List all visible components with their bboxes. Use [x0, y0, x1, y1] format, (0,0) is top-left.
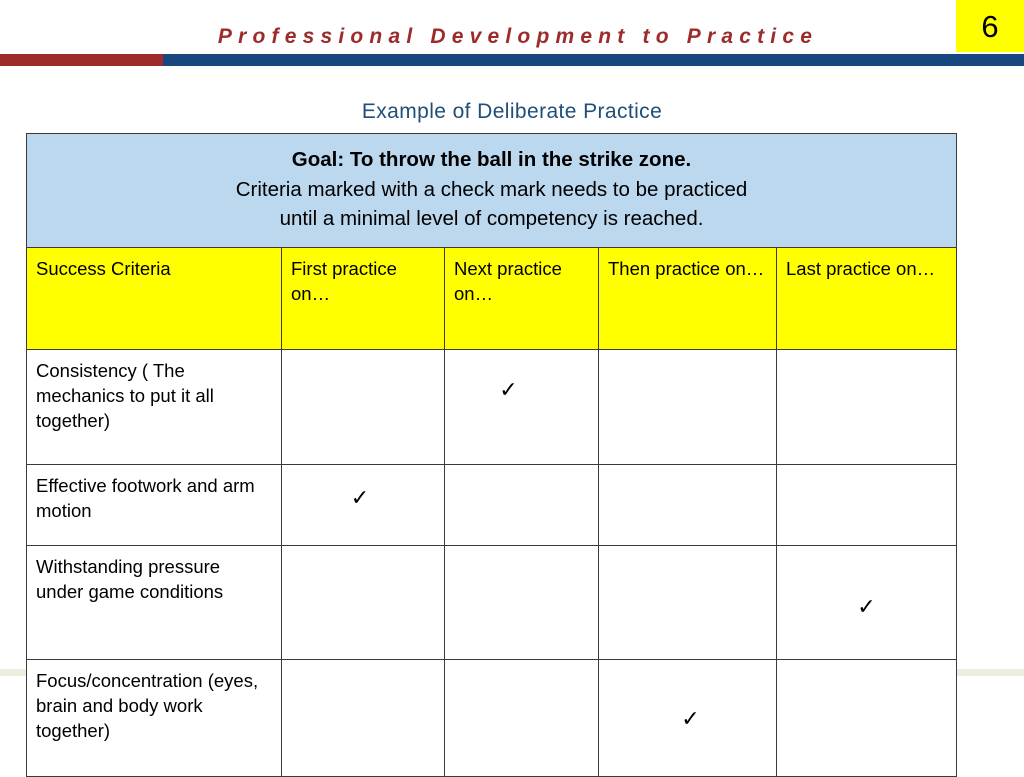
- header-accent-bar-red: [0, 54, 163, 66]
- column-header-then-practice: Then practice on…: [599, 248, 777, 350]
- check-icon: ✓: [351, 488, 369, 510]
- criteria-label: Effective footwork and arm motion: [27, 465, 282, 546]
- goal-statement: Goal: To throw the ball in the strike zo…: [37, 145, 946, 175]
- checkmark-cell-first[interactable]: [282, 660, 445, 777]
- column-header-next-practice: Next practice on…: [445, 248, 599, 350]
- checkmark-cell-last[interactable]: [777, 660, 957, 777]
- header-accent-bar-blue: [163, 54, 1024, 66]
- checkmark-cell-then[interactable]: [599, 350, 777, 465]
- table-row: Effective footwork and arm motion ✓: [27, 465, 957, 546]
- checkmark-cell-then[interactable]: ✓: [599, 660, 777, 777]
- check-icon: ✓: [857, 597, 875, 619]
- check-icon: ✓: [499, 380, 517, 402]
- table-row: Consistency ( The mechanics to put it al…: [27, 350, 957, 465]
- checkmark-cell-next[interactable]: [445, 546, 599, 660]
- slide-subtitle: Example of Deliberate Practice: [0, 100, 1024, 124]
- table-row: Focus/concentration (eyes, brain and bod…: [27, 660, 957, 777]
- column-header-first-practice: First practice on…: [282, 248, 445, 350]
- checkmark-cell-first[interactable]: [282, 350, 445, 465]
- goal-instruction-line-1: Criteria marked with a check mark needs …: [37, 175, 946, 205]
- goal-banner-cell: Goal: To throw the ball in the strike zo…: [27, 134, 957, 248]
- checkmark-cell-last[interactable]: ✓: [777, 546, 957, 660]
- column-header-success-criteria: Success Criteria: [27, 248, 282, 350]
- table-row: Withstanding pressure under game conditi…: [27, 546, 957, 660]
- checkmark-cell-next[interactable]: ✓: [445, 350, 599, 465]
- checkmark-cell-next[interactable]: [445, 465, 599, 546]
- checkmark-cell-first[interactable]: [282, 546, 445, 660]
- slide-number-text: 6: [981, 11, 998, 42]
- criteria-label: Withstanding pressure under game conditi…: [27, 546, 282, 660]
- slide-number-badge: 6: [956, 0, 1024, 52]
- table-header-row: Success Criteria First practice on… Next…: [27, 248, 957, 350]
- slide-header-title: Professional Development to Practice: [168, 25, 868, 49]
- criteria-label: Consistency ( The mechanics to put it al…: [27, 350, 282, 465]
- checkmark-cell-then[interactable]: [599, 546, 777, 660]
- check-icon: ✓: [681, 709, 699, 731]
- checkmark-cell-next[interactable]: [445, 660, 599, 777]
- checkmark-cell-first[interactable]: ✓: [282, 465, 445, 546]
- checkmark-cell-last[interactable]: [777, 350, 957, 465]
- column-header-last-practice: Last practice on…: [777, 248, 957, 350]
- checkmark-cell-last[interactable]: [777, 465, 957, 546]
- table-goal-row: Goal: To throw the ball in the strike zo…: [27, 134, 957, 248]
- deliberate-practice-table: Goal: To throw the ball in the strike zo…: [26, 133, 957, 777]
- goal-instruction-line-2: until a minimal level of competency is r…: [37, 204, 946, 234]
- slide-header: Professional Development to Practice: [0, 0, 1024, 70]
- checkmark-cell-then[interactable]: [599, 465, 777, 546]
- criteria-label: Focus/concentration (eyes, brain and bod…: [27, 660, 282, 777]
